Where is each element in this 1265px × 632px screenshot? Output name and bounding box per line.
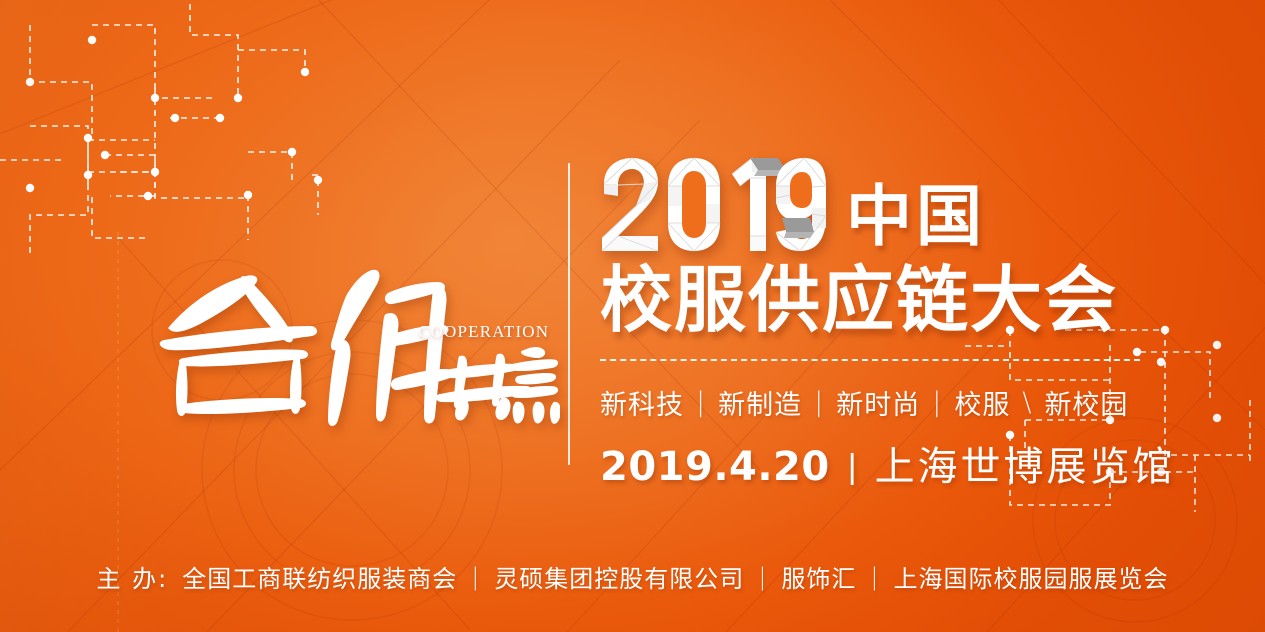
tagline-separator-2: | [932, 387, 942, 418]
tagline-item-4: 新校园 [1044, 383, 1128, 422]
year-2019-logo [600, 156, 828, 256]
organizers-row: 主 办: 全国工商联纺织服装商会 | 灵硕集团控股有限公司 | 服饰汇 | 上海… [0, 559, 1265, 594]
headline-block: 中国 校服供应链大会 新科技 | 新制造 | 新时尚 | 校服 \ 新校园 20… [600, 148, 1160, 492]
conference-poster: COOPERATION [0, 0, 1265, 632]
tagline-separator-0: | [696, 387, 706, 418]
event-date-venue-row: 2019.4.20 | 上海世博展览馆 [600, 434, 1160, 492]
event-date: 2019.4.20 [600, 444, 830, 490]
tagline-separator-3: \ [1022, 387, 1032, 418]
calligraphy-block: COOPERATION [150, 268, 560, 428]
headline-title: 校服供应链大会 [600, 264, 1160, 337]
tagline-item-0: 新科技 [600, 383, 684, 422]
headline-country: 中国 [846, 185, 986, 250]
organizers-label: 主 办: [97, 559, 169, 594]
organizer-1: 灵硕集团控股有限公司 [494, 559, 744, 594]
organizer-3: 上海国际校服园服展览会 [894, 559, 1169, 594]
organizer-separator-2: | [870, 563, 879, 591]
calligraphy-artwork [150, 268, 560, 428]
tagline-item-3: 校服 [954, 383, 1010, 422]
tagline-separator-1: | [814, 387, 824, 418]
event-venue: 上海世博展览馆 [875, 434, 1176, 492]
tagline-row: 新科技 | 新制造 | 新时尚 | 校服 \ 新校园 [600, 383, 1160, 422]
tagline-item-2: 新时尚 [836, 383, 920, 422]
tagline-item-1: 新制造 [718, 383, 802, 422]
vertical-divider [568, 163, 570, 465]
organizer-2: 服饰汇 [781, 559, 856, 594]
horizontal-dashed-divider [600, 359, 1140, 361]
organizer-0: 全国工商联纺织服装商会 [182, 559, 457, 594]
organizer-separator-0: | [471, 563, 480, 591]
event-separator: | [848, 448, 857, 487]
cooperation-english-label: COOPERATION [418, 322, 549, 342]
headline-first-line: 中国 [600, 148, 1160, 256]
organizer-separator-1: | [758, 563, 767, 591]
